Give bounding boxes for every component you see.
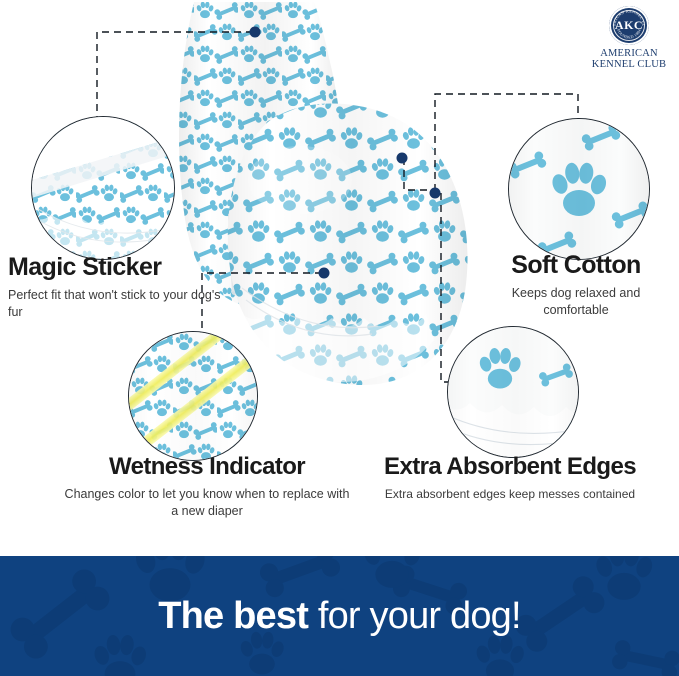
akc-logo: AMERICAN KENNEL CLUB FOUNDED 1884 AKC AM… bbox=[587, 6, 671, 70]
feature-title: Magic Sticker bbox=[8, 255, 223, 280]
feature-description: Perfect fit that won't stick to your dog… bbox=[8, 287, 223, 321]
callout-circle-wetness-indicator bbox=[128, 331, 258, 461]
feature-soft-cotton: Soft Cotton Keeps dog relaxed and comfor… bbox=[478, 253, 674, 319]
banner-text: The best for your dog! bbox=[158, 595, 521, 638]
callout-circle-extra-absorbent-edges bbox=[447, 326, 579, 458]
akc-wordmark-line2: KENNEL CLUB bbox=[592, 59, 666, 70]
feature-description: Changes color to let you know when to re… bbox=[62, 486, 352, 520]
infographic-canvas: AMERICAN KENNEL CLUB FOUNDED 1884 AKC AM… bbox=[0, 0, 679, 676]
akc-wordmark: AMERICAN KENNEL CLUB bbox=[592, 48, 666, 70]
callout-circle-magic-sticker bbox=[31, 116, 175, 260]
feature-description: Keeps dog relaxed and comfortable bbox=[478, 285, 674, 319]
seal-monogram: AKC bbox=[615, 18, 643, 33]
bottom-banner: The best for your dog! bbox=[0, 556, 679, 676]
banner-text-bold: The best bbox=[158, 595, 308, 637]
feature-wetness-indicator: Wetness Indicator Changes color to let y… bbox=[62, 455, 352, 520]
akc-wordmark-line1: AMERICAN bbox=[592, 48, 666, 59]
feature-title: Extra Absorbent Edges bbox=[345, 455, 675, 479]
callout-circle-soft-cotton bbox=[508, 118, 650, 260]
feature-description: Extra absorbent edges keep messes contai… bbox=[345, 486, 675, 502]
feature-magic-sticker: Magic Sticker Perfect fit that won't sti… bbox=[8, 255, 223, 321]
feature-title: Soft Cotton bbox=[478, 253, 674, 278]
feature-title: Wetness Indicator bbox=[62, 455, 352, 479]
feature-extra-absorbent-edges: Extra Absorbent Edges Extra absorbent ed… bbox=[345, 455, 675, 502]
banner-text-regular: for your dog! bbox=[308, 595, 521, 637]
akc-seal-icon: AMERICAN KENNEL CLUB FOUNDED 1884 AKC bbox=[609, 6, 649, 45]
